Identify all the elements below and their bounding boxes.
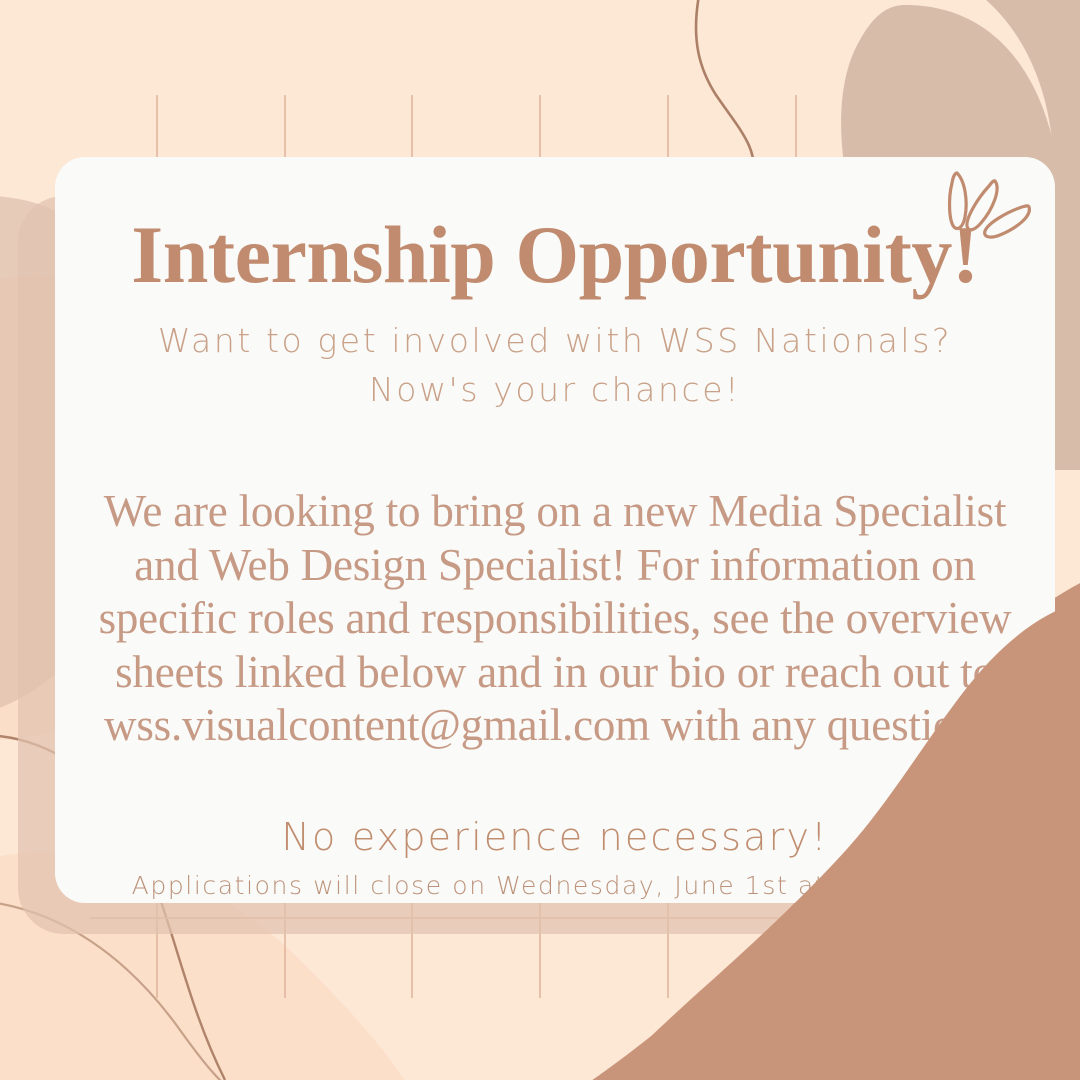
poster-canvas: Internship Opportunity! Want to get invo… [0,0,1080,1080]
foreground-blob [0,0,1080,1080]
